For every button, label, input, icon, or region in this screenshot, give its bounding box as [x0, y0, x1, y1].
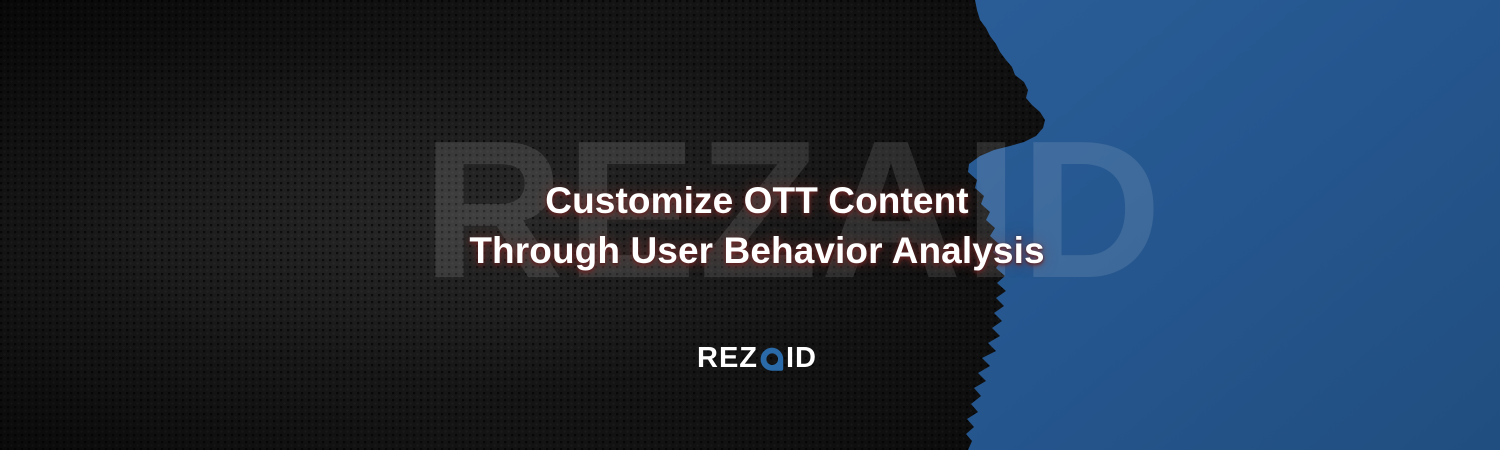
- headline-line-1: Customize OTT Content: [14, 176, 1500, 226]
- brand-logo: REZ ID: [0, 344, 1500, 373]
- headline-line-2: Through User Behavior Analysis: [14, 226, 1500, 276]
- a-circle-mark-icon: [760, 347, 785, 372]
- headline: Customize OTT Content Through User Behav…: [0, 176, 1500, 276]
- brand-logo-lockup: REZ ID: [697, 344, 817, 373]
- brand-logo-text-before: REZ: [697, 344, 758, 373]
- promo-banner: REZAID Customize OTT Content Through Use…: [0, 0, 1500, 450]
- brand-logo-text-after: ID: [786, 344, 817, 373]
